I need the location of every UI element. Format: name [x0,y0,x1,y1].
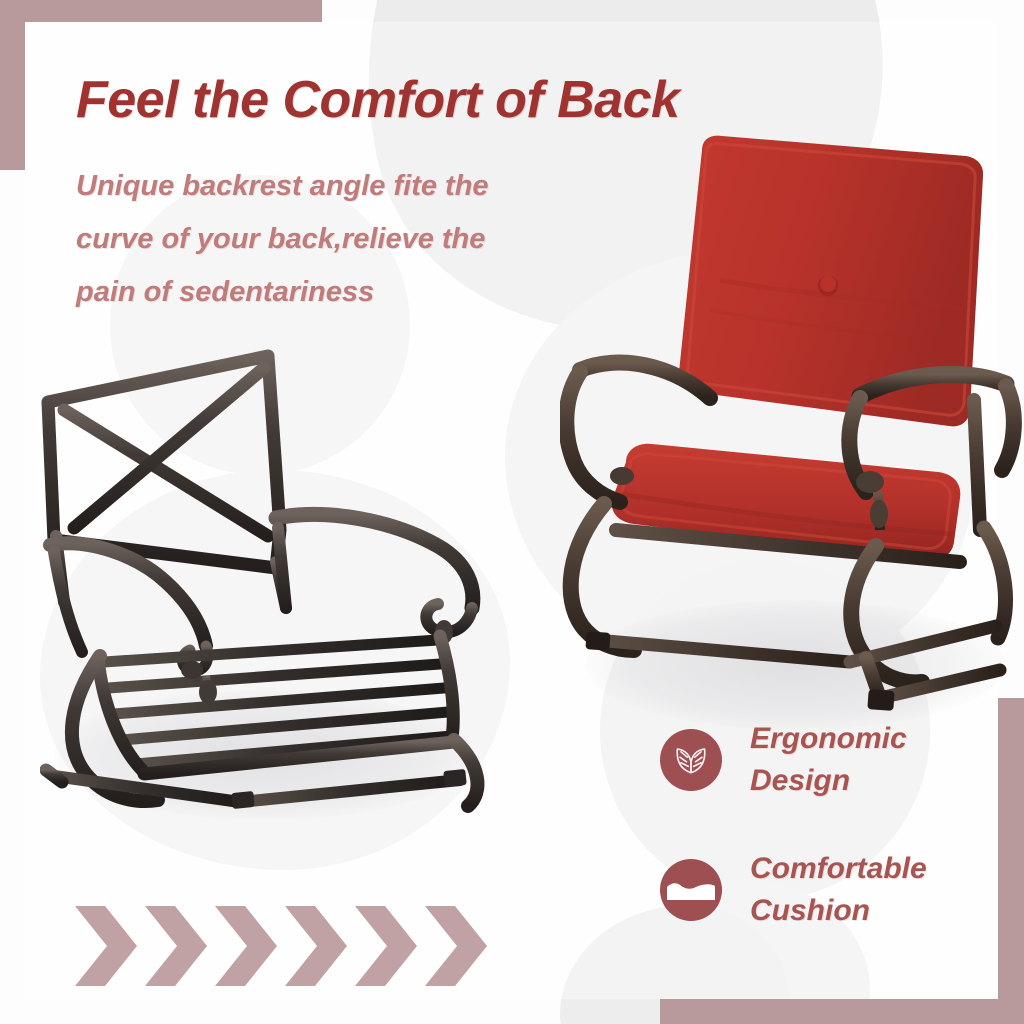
product-image-chair-red-cushioned [560,110,1024,730]
subtitle-line-1: Unique backrest angle fite the [76,160,596,213]
chevron-right-icon-2 [145,906,207,986]
subtitle-line-2: curve of your back,relieve the [76,213,596,266]
feature-item-ergonomic-design: Ergonomic Design [660,718,990,802]
chair-right-arm [276,514,473,646]
feature-list: Ergonomic Design Comfortable Cushion [660,718,990,978]
leaf-icon [660,729,722,791]
chevron-right-icon-6 [425,906,487,986]
page-title: Feel the Comfort of Back [76,70,679,130]
subtitle: Unique backrest angle fite the curve of … [76,160,596,319]
frame-top-left-vertical [0,0,25,170]
chevron-right-icon-3 [215,906,277,986]
frame-bottom-right-vertical [998,698,1024,1024]
feature-item-comfortable-cushion: Comfortable Cushion [660,848,990,932]
feature-label-comfortable-cushion: Comfortable Cushion [750,848,927,932]
subtitle-line-3: pain of sedentariness [76,266,596,319]
chair-back-x-frame [48,356,286,608]
chevron-right-icon-1 [75,906,137,986]
frame-top-left-horizontal [0,0,322,22]
feature-label-ergonomic-design: Ergonomic Design [750,718,907,802]
chair-seat-slats [98,636,454,774]
cushion-icon [660,859,722,921]
chevron-right-icon-5 [355,906,417,986]
chevron-right-icon-4 [285,906,347,986]
frame-bottom-right-horizontal [660,999,1024,1024]
product-feature-banner: Feel the Comfort of Back Unique backrest… [0,0,1024,1024]
product-image-chair-frame-black [40,340,510,820]
chevron-arrow-group [75,900,505,992]
